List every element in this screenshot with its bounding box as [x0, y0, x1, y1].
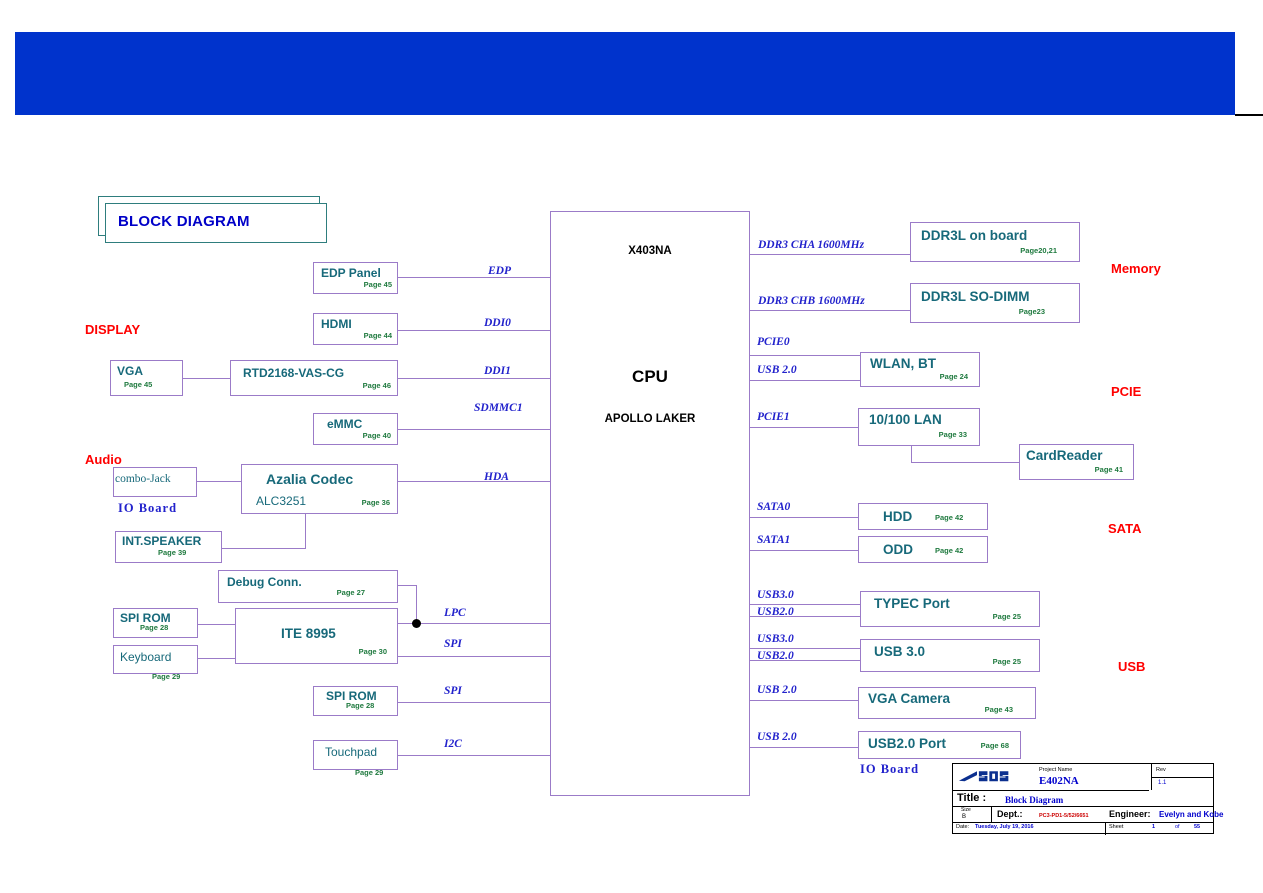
cpu-core-label: APOLLO LAKER	[551, 413, 749, 425]
block-combo-jack-title: combo-Jack	[115, 473, 171, 485]
tb-project-name-value: E402NA	[1039, 775, 1079, 787]
wire-vga-rtd	[183, 378, 230, 379]
header-band	[15, 32, 1235, 115]
block-int-speaker[interactable]: INT.SPEAKER Page 39	[115, 531, 222, 563]
block-keyboard[interactable]: Keyboard	[113, 645, 198, 674]
tb-size-label: Size	[961, 807, 971, 813]
wire-keyboard-ite	[198, 658, 235, 659]
signal-label-ddr3-chb: DDR3 CHB 1600MHz	[758, 295, 865, 307]
block-edp-panel-page: Page 45	[364, 280, 392, 289]
wire-combojack-codec	[197, 481, 241, 482]
signal-label-usb30-usb: USB3.0	[757, 633, 794, 645]
block-ddr3l-onboard-title: DDR3L on board	[921, 228, 1027, 243]
signal-label-usb30-typec: USB3.0	[757, 589, 794, 601]
block-vga-page: Page 45	[124, 380, 152, 389]
block-edp-panel[interactable]: EDP Panel Page 45	[313, 262, 398, 294]
signal-label-pcie1: PCIE1	[757, 411, 790, 423]
wire-spirom-ite	[198, 624, 235, 625]
tb-sheet-num: 1	[1152, 824, 1155, 830]
tb-sheet-label: Sheet	[1109, 824, 1123, 830]
tb-dept-label: Dept.:	[997, 809, 1023, 819]
wire-sata1	[750, 550, 858, 551]
block-wlan-bt[interactable]: WLAN, BT Page 24	[860, 352, 980, 387]
block-azalia-codec[interactable]: Azalia Codec ALC3251 Page 36	[241, 464, 398, 514]
wire-sata0	[750, 517, 858, 518]
signal-label-ddr3-cha: DDR3 CHA 1600MHz	[758, 239, 864, 251]
block-odd-page: Page 42	[935, 546, 963, 555]
block-azalia-codec-title: Azalia Codec	[266, 471, 353, 487]
block-ddr3l-sodimm-title: DDR3L SO-DIMM	[921, 289, 1030, 304]
block-odd[interactable]: ODD Page 42	[858, 536, 988, 563]
block-emmc-title: eMMC	[327, 417, 362, 431]
block-int-speaker-title: INT.SPEAKER	[122, 534, 201, 548]
block-vga-camera[interactable]: VGA Camera Page 43	[858, 687, 1036, 719]
signal-label-i2c: I2C	[444, 738, 462, 750]
signal-label-lpc: LPC	[444, 607, 466, 619]
wire-usb20-port	[750, 747, 858, 748]
block-debug-conn-title: Debug Conn.	[227, 575, 302, 589]
wire-ddi1	[398, 378, 550, 379]
block-touchpad[interactable]: Touchpad	[313, 740, 398, 770]
signal-label-usb20-port: USB 2.0	[757, 731, 797, 743]
block-typec-port-title: TYPEC Port	[874, 596, 950, 611]
wire-i2c	[398, 755, 550, 756]
wire-hda	[398, 481, 550, 482]
asus-logo-icon	[958, 768, 1034, 785]
section-label-memory: Memory	[1111, 261, 1161, 276]
block-spi-rom-ec-page: Page 28	[140, 623, 168, 632]
wire-lan-cardreader-v	[911, 446, 912, 463]
section-label-display: DISPLAY	[85, 322, 140, 337]
block-hdmi-title: HDMI	[321, 317, 352, 331]
block-debug-conn-page: Page 27	[337, 588, 365, 597]
block-keyboard-title: Keyboard	[120, 650, 171, 664]
block-vga-camera-title: VGA Camera	[868, 691, 950, 706]
tb-sheet-of: of	[1175, 824, 1180, 830]
wire-usb20-cam	[750, 700, 858, 701]
block-hdmi-page: Page 44	[364, 331, 392, 340]
signal-label-hda: HDA	[484, 471, 509, 483]
block-edp-panel-title: EDP Panel	[321, 266, 381, 280]
block-touchpad-title: Touchpad	[325, 745, 377, 759]
block-hdd-page: Page 42	[935, 513, 963, 522]
block-int-speaker-page: Page 39	[158, 548, 186, 557]
tb-hline-2	[953, 806, 1213, 807]
signal-label-spi-ec: SPI	[444, 638, 462, 650]
tb-rev-value: 1.1	[1158, 780, 1166, 786]
wire-spi-ec	[398, 656, 550, 657]
tb-engineer-label: Engineer:	[1109, 809, 1151, 819]
tb-engineer-value: Evelyn and Kobe	[1159, 810, 1223, 819]
wire-debug-v	[416, 585, 417, 623]
wire-lan-cardreader-h	[911, 462, 1020, 463]
block-usb30-page: Page 25	[993, 657, 1021, 666]
block-diagram-tag-label: BLOCK DIAGRAM	[118, 213, 250, 230]
signal-label-pcie0: PCIE0	[757, 336, 790, 348]
tb-dept-value: PC3-PD1-5/52/6651	[1039, 813, 1089, 819]
block-usb20-port-page: Page 68	[981, 741, 1009, 750]
signal-label-spi-cpu: SPI	[444, 685, 462, 697]
header-rule	[1235, 114, 1263, 116]
block-diagram-page: BLOCK DIAGRAM DISPLAY Audio Memory PCIE …	[0, 0, 1263, 893]
block-emmc-page: Page 40	[363, 431, 391, 440]
block-cardreader-page: Page 41	[1095, 465, 1123, 474]
tb-title-label: Title :	[957, 792, 986, 804]
block-ite8995[interactable]: ITE 8995 Page 30	[235, 608, 398, 664]
section-label-audio: Audio	[85, 452, 122, 467]
wire-ddi0	[398, 330, 550, 331]
block-ddr3l-sodimm[interactable]: DDR3L SO-DIMM Page23	[910, 283, 1080, 323]
block-wlan-bt-page: Page 24	[940, 372, 968, 381]
block-hdd[interactable]: HDD Page 42	[858, 503, 988, 530]
block-combo-jack[interactable]: combo-Jack	[113, 467, 197, 497]
block-keyboard-page: Page 29	[152, 672, 180, 681]
block-emmc[interactable]: eMMC Page 40	[313, 413, 398, 445]
tb-hline-3	[953, 822, 1213, 823]
block-lan-page: Page 33	[939, 430, 967, 439]
block-typec-port-page: Page 25	[993, 612, 1021, 621]
wire-ddr3-chb	[750, 310, 910, 311]
block-cpu[interactable]: X403NA CPU APOLLO LAKER	[550, 211, 750, 796]
tb-size-value: B	[962, 814, 966, 820]
block-ddr3l-sodimm-page: Page23	[1019, 307, 1045, 316]
block-cardreader[interactable]: CardReader Page 41	[1019, 444, 1134, 480]
block-azalia-codec-page: Page 36	[362, 498, 390, 507]
signal-label-edp: EDP	[488, 265, 511, 277]
block-usb30[interactable]: USB 3.0 Page 25	[860, 639, 1040, 672]
signal-label-ddi0: DDI0	[484, 317, 511, 329]
signal-label-sata0: SATA0	[757, 501, 790, 513]
block-rtd2168-title: RTD2168-VAS-CG	[243, 366, 344, 380]
tb-project-name-label: Project Name	[1039, 767, 1072, 773]
block-rtd2168[interactable]: RTD2168-VAS-CG Page 46	[230, 360, 398, 396]
block-spi-rom-ec[interactable]: SPI ROM Page 28	[113, 608, 198, 638]
title-block: Project Name E402NA Rev 1.1 Title : Bloc…	[952, 763, 1214, 834]
signal-label-usb20-usb: USB2.0	[757, 650, 794, 662]
tb-date-value: Tuesday, July 19, 2016	[975, 824, 1034, 830]
tb-hline-1	[953, 790, 1149, 791]
block-lan[interactable]: 10/100 LAN Page 33	[858, 408, 980, 446]
cpu-name-label: CPU	[551, 367, 749, 387]
block-ddr3l-onboard-page: Page20,21	[1020, 246, 1057, 255]
wire-pcie1	[750, 427, 858, 428]
block-touchpad-page: Page 29	[355, 768, 383, 777]
block-spi-rom-cpu[interactable]: SPI ROM Page 28	[313, 686, 398, 716]
tb-title-value: Block Diagram	[1005, 795, 1063, 805]
block-debug-conn[interactable]: Debug Conn. Page 27	[218, 570, 398, 603]
signal-label-sata1: SATA1	[757, 534, 790, 546]
wire-speaker-h	[222, 548, 306, 549]
block-wlan-bt-title: WLAN, BT	[870, 356, 936, 371]
signal-label-ddi1: DDI1	[484, 365, 511, 377]
signal-label-usb20-typec: USB2.0	[757, 606, 794, 618]
block-diagram-tag: BLOCK DIAGRAM	[105, 203, 327, 243]
signal-label-usb20-cam: USB 2.0	[757, 684, 797, 696]
tb-sheet-total: 55	[1194, 824, 1200, 830]
block-odd-title: ODD	[883, 542, 913, 557]
tb-rev-label: Rev	[1156, 767, 1166, 773]
block-vga-camera-page: Page 43	[985, 705, 1013, 714]
io-board-label-usb: IO Board	[860, 762, 919, 777]
block-azalia-codec-subtitle: ALC3251	[256, 494, 306, 508]
section-label-sata: SATA	[1108, 521, 1141, 536]
block-cardreader-title: CardReader	[1026, 448, 1103, 463]
block-usb20-port-title: USB2.0 Port	[868, 736, 946, 751]
cpu-model-label: X403NA	[551, 245, 749, 257]
block-vga[interactable]: VGA Page 45	[110, 360, 183, 396]
wire-usb20-wlan	[750, 380, 860, 381]
wire-debug-h	[398, 585, 417, 586]
block-spi-rom-cpu-page: Page 28	[346, 701, 374, 710]
section-label-usb: USB	[1118, 659, 1145, 674]
block-hdmi[interactable]: HDMI Page 44	[313, 313, 398, 345]
block-ddr3l-onboard[interactable]: DDR3L on board Page20,21	[910, 222, 1080, 262]
wire-edp	[398, 277, 550, 278]
junction-lpc	[412, 619, 421, 628]
wire-sdmmc1	[398, 429, 550, 430]
block-typec-port[interactable]: TYPEC Port Page 25	[860, 591, 1040, 627]
tb-vline-size	[991, 806, 992, 822]
block-rtd2168-page: Page 46	[363, 381, 391, 390]
signal-label-sdmmc1: SDMMC1	[474, 402, 523, 414]
wire-spi-cpu	[398, 702, 550, 703]
wire-speaker-v	[305, 512, 306, 549]
block-ite8995-page: Page 30	[359, 647, 387, 656]
block-usb20-port[interactable]: USB2.0 Port Page 68	[858, 731, 1021, 759]
tb-vline-sheet	[1105, 822, 1106, 835]
signal-label-usb20-wlan: USB 2.0	[757, 364, 797, 376]
tb-hline-rev	[1151, 777, 1213, 778]
block-vga-title: VGA	[117, 364, 143, 378]
block-usb30-title: USB 3.0	[874, 644, 925, 659]
wire-pcie0	[750, 355, 860, 356]
tb-date-label: Date:	[956, 824, 969, 830]
block-hdd-title: HDD	[883, 509, 912, 524]
io-board-label-audio: IO Board	[118, 501, 177, 516]
wire-ddr3-cha	[750, 254, 910, 255]
block-ite8995-title: ITE 8995	[281, 626, 336, 641]
section-label-pcie: PCIE	[1111, 384, 1141, 399]
block-lan-title: 10/100 LAN	[869, 412, 942, 427]
